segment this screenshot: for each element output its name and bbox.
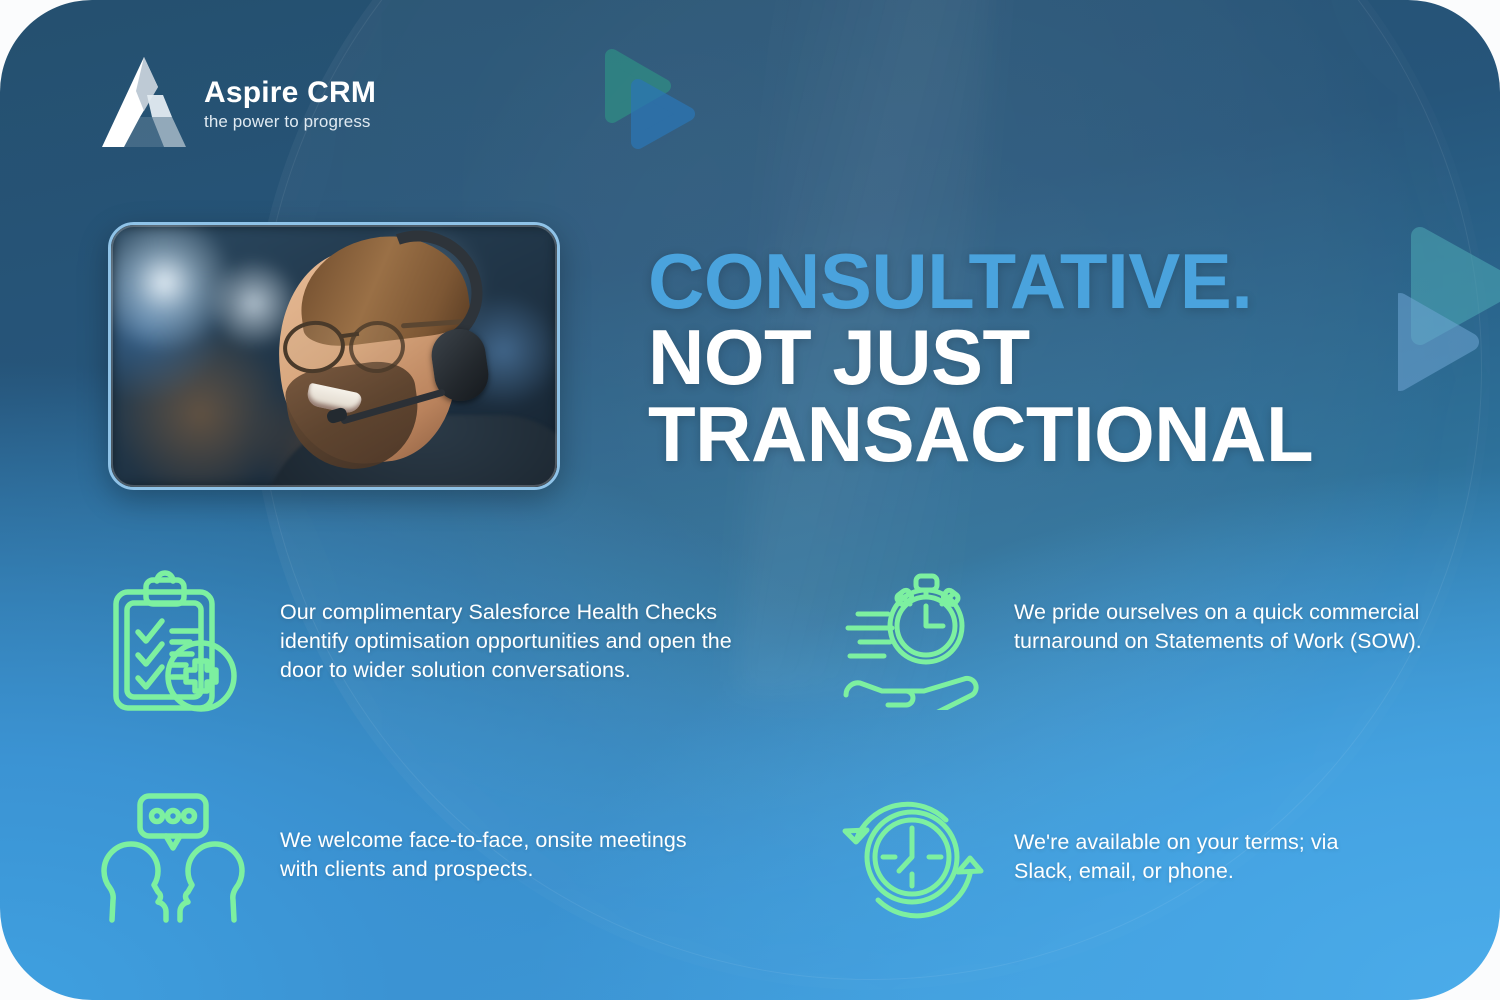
brand-tagline: the power to progress bbox=[204, 112, 376, 132]
hero-photo-frame bbox=[108, 222, 560, 490]
clipboard-health-check-icon bbox=[100, 570, 248, 718]
triangle-top-blue-icon bbox=[600, 44, 720, 164]
feature-item: We pride ourselves on a quick commercial… bbox=[838, 570, 1438, 710]
headline-line-3: TRANSACTIONAL bbox=[648, 396, 1438, 472]
stopwatch-in-hand-icon bbox=[838, 570, 986, 710]
two-heads-speech-bubble-icon bbox=[100, 790, 248, 925]
feature-text: We're available on your terms; via Slack… bbox=[1014, 828, 1398, 886]
slide-canvas: Aspire CRM the power to progress CONSULT… bbox=[0, 0, 1500, 1000]
aspire-a-mark-icon bbox=[100, 55, 188, 150]
brand-name: Aspire CRM bbox=[204, 77, 376, 109]
feature-item: We're available on your terms; via Slack… bbox=[838, 790, 1398, 925]
brand-logo: Aspire CRM the power to progress bbox=[100, 55, 376, 150]
feature-text: Our complimentary Salesforce Health Chec… bbox=[280, 598, 780, 684]
feature-item: Our complimentary Salesforce Health Chec… bbox=[100, 570, 790, 718]
headline-line-2: NOT JUST bbox=[648, 319, 1438, 395]
headline-line-1: CONSULTATIVE. bbox=[648, 243, 1438, 319]
feature-text: We welcome face-to-face, onsite meetings… bbox=[280, 826, 700, 884]
feature-text: We pride ourselves on a quick commercial… bbox=[1014, 598, 1438, 656]
clock-rotating-arrows-icon bbox=[838, 790, 986, 925]
feature-item: We welcome face-to-face, onsite meetings… bbox=[100, 790, 740, 925]
support-agent-photo bbox=[111, 225, 557, 487]
page-title: CONSULTATIVE. NOT JUST TRANSACTIONAL bbox=[648, 243, 1438, 472]
